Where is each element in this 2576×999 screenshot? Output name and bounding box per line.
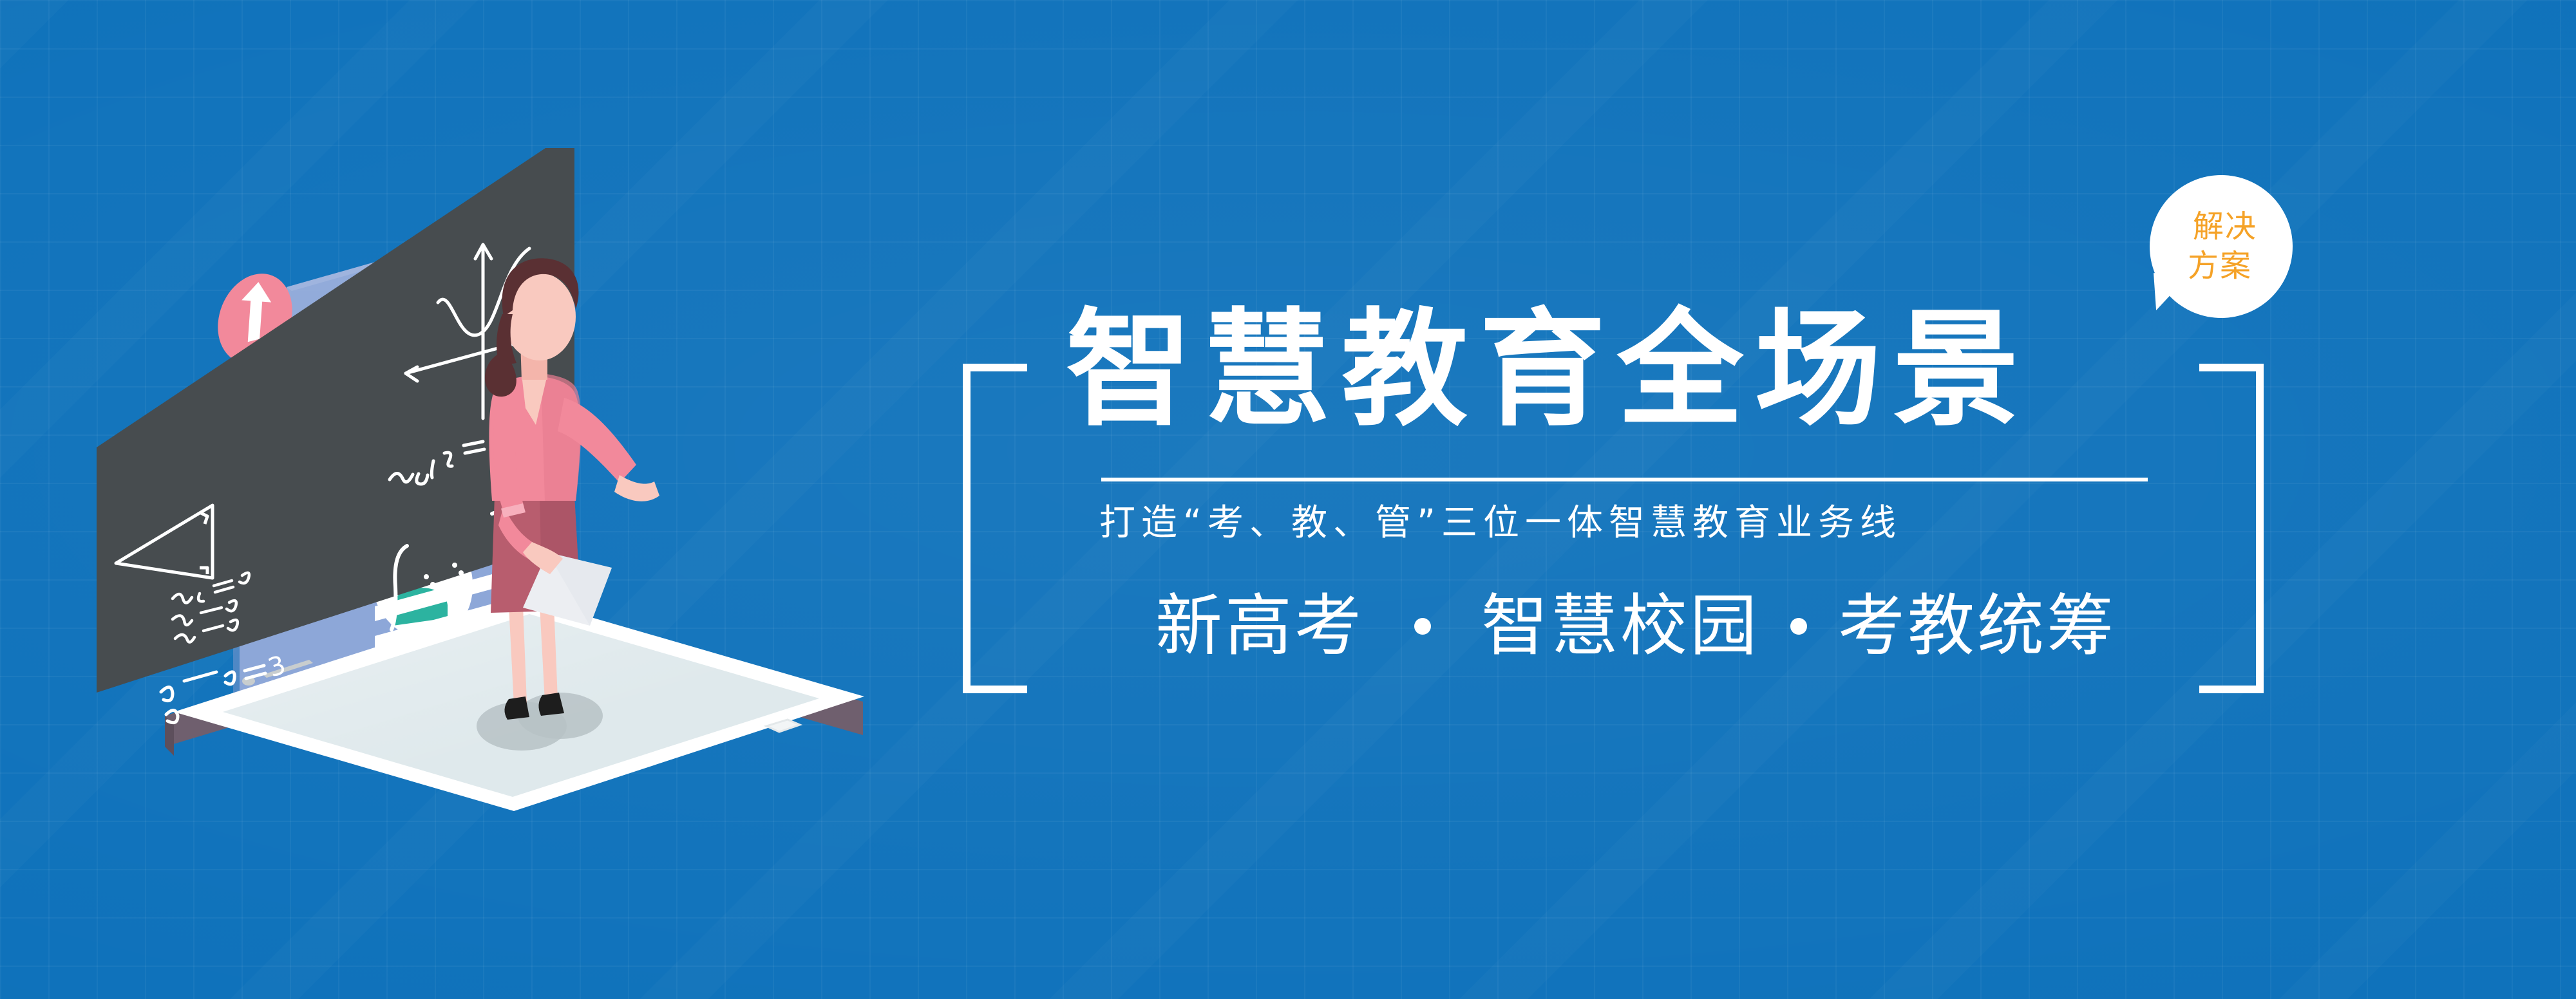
education-hero-banner: 3 xyxy=(0,0,2576,999)
isometric-illustration: 3 xyxy=(97,148,902,875)
tagline-row: 新高考 智慧校园 考教统筹 xyxy=(1059,591,2212,661)
shoe-left xyxy=(504,696,529,720)
badge-label: 解决 方案 xyxy=(2150,175,2293,318)
page-title: 智慧教育全场景 xyxy=(1066,303,2161,439)
tagline-dot-2 xyxy=(1790,618,1807,635)
solution-badge[interactable]: 解决 方案 xyxy=(2150,175,2298,336)
tagline-dot-1 xyxy=(1414,618,1431,635)
tagline-item-1: 新高考 xyxy=(1155,591,1364,661)
bracket-left xyxy=(963,364,1027,693)
page-subtitle: 打造“考、教、管”三位一体智慧教育业务线 xyxy=(1099,503,2194,543)
badge-label-line2: 方案 xyxy=(2188,247,2252,286)
tagline-item-3: 考教统筹 xyxy=(1838,591,2116,661)
hero-text-block: 智慧教育全场景 打造“考、教、管”三位一体智慧教育业务线 新高考 智慧校园 考教… xyxy=(963,303,2264,714)
title-divider xyxy=(1101,478,2148,481)
tagline-item-2: 智慧校园 xyxy=(1481,591,1759,661)
hand-pointing xyxy=(614,475,659,501)
badge-label-line1: 解决 xyxy=(2193,207,2257,247)
